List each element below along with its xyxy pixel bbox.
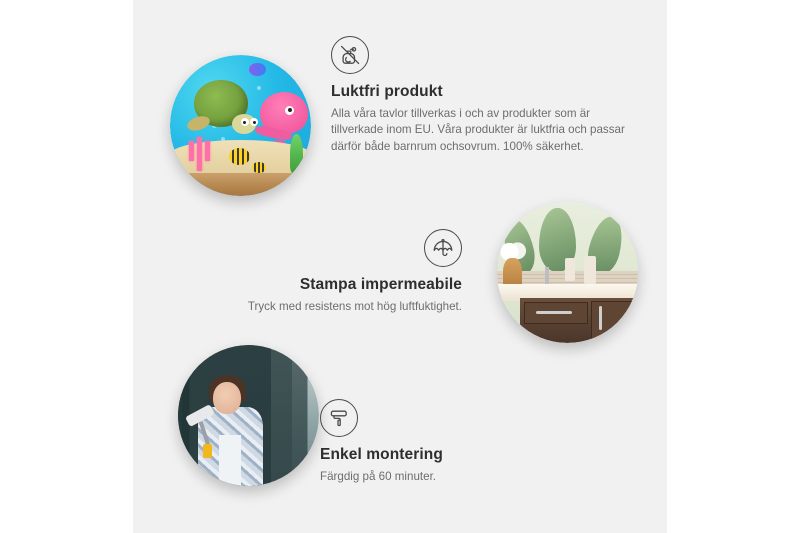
faucet-icon: [545, 267, 549, 284]
photo-bathroom-tropical-wallpaper: [497, 202, 638, 343]
vanity-cabinet: [520, 298, 638, 343]
fish-icon: [249, 63, 266, 76]
seaweed-icon: [290, 134, 303, 173]
person-head: [213, 382, 241, 414]
person-shirt: [219, 435, 242, 486]
octopus-eye: [285, 106, 294, 115]
photo-woman-with-paint-roller-forest: [178, 345, 319, 486]
umbrella-icon: [424, 229, 462, 267]
coral-icon: [181, 137, 218, 171]
soap-bottle: [584, 256, 595, 284]
feature-odor-free: Luktfri produkt Alla våra tavlor tillver…: [331, 36, 631, 155]
cabinet-door: [591, 301, 633, 342]
turtle-eye: [241, 118, 249, 126]
photo-underwater-kids-scene: [170, 55, 311, 196]
no-fragrance-icon: [331, 36, 369, 74]
promo-graphic: Luktfri produkt Alla våra tavlor tillver…: [0, 0, 800, 533]
sea-floor: [170, 173, 311, 196]
feature-body: Färgdig på 60 minuter.: [320, 469, 550, 485]
paint-roller-grip: [203, 444, 211, 458]
feature-easy-mounting: Enkel montering Färgdig på 60 minuter.: [320, 399, 550, 485]
feature-title: Stampa impermeabile: [196, 276, 462, 294]
feature-body: Alla våra tavlor tillverkas i och av pro…: [331, 106, 631, 155]
feature-title: Enkel montering: [320, 446, 550, 464]
soap-bottle: [565, 258, 575, 281]
feature-body: Tryck med resistens mot hög luftfuktighe…: [196, 299, 462, 315]
feature-waterproof-print: Stampa impermeabile Tryck med resistens …: [196, 229, 462, 315]
drawer-handle: [536, 311, 572, 314]
feature-title: Luktfri produkt: [331, 83, 631, 101]
paint-roller-icon: [320, 399, 358, 437]
content-panel: Luktfri produkt Alla våra tavlor tillver…: [133, 0, 667, 533]
